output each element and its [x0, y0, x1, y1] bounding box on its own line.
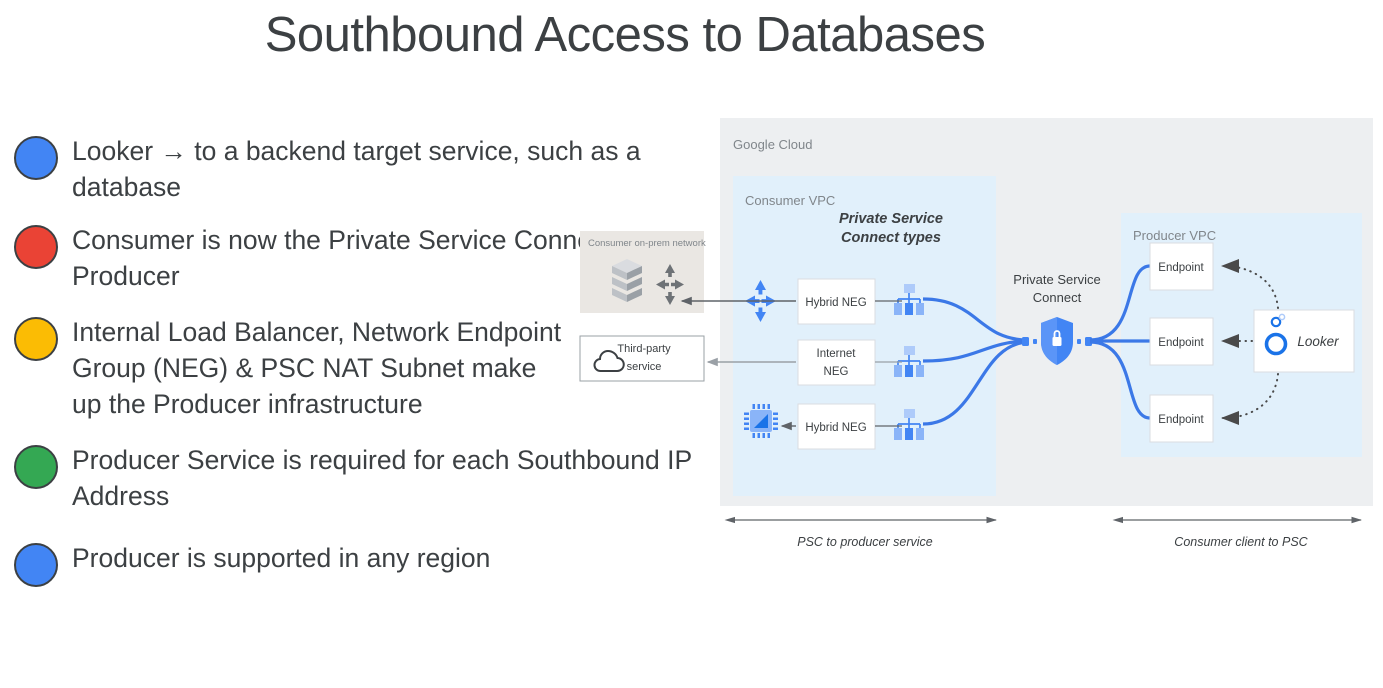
psc-types-label-line1: Private Service: [839, 211, 943, 227]
onprem-label: Consumer on-prem network: [588, 238, 706, 249]
producer-vpc-label: Producer VPC: [1133, 228, 1216, 243]
neg-box-1-label: Hybrid NEG: [805, 297, 866, 309]
psc-label-line1: Private Service: [1013, 272, 1100, 287]
page-title: Southbound Access to Databases: [0, 2, 1250, 68]
span-left-label: PSC to producer service: [797, 535, 933, 549]
looker-label: Looker: [1297, 334, 1339, 349]
architecture-diagram: Google Cloud Consumer VPC Producer VPC C…: [578, 118, 1373, 573]
bullet-label: Internal Load Balancer, Network Endpoint…: [72, 314, 572, 422]
bullet-dot-red: [14, 225, 58, 269]
bullet-dot-green: [14, 445, 58, 489]
google-cloud-label: Google Cloud: [733, 137, 813, 152]
endpoint-box-1-label: Endpoint: [1158, 262, 1204, 274]
neg-box-2-label-line2: NEG: [824, 366, 849, 378]
neg-box-2: [798, 340, 875, 385]
psc-label-line2: Connect: [1033, 290, 1082, 305]
endpoint-box-3-label: Endpoint: [1158, 414, 1204, 426]
bullet-dot-yellow: [14, 317, 58, 361]
third-party-label-line2: service: [627, 361, 662, 373]
endpoint-box-2-label: Endpoint: [1158, 337, 1204, 349]
neg-box-3-label: Hybrid NEG: [805, 422, 866, 434]
bullet-label: Producer is supported in any region: [72, 540, 490, 576]
third-party-label-line1: Third-party: [617, 343, 671, 355]
bullet-dot-blue: [14, 543, 58, 587]
consumer-vpc-label: Consumer VPC: [745, 193, 835, 208]
psc-types-label-line2: Connect types: [841, 230, 941, 246]
bullet-dot-blue: [14, 136, 58, 180]
span-right-label: Consumer client to PSC: [1174, 535, 1308, 549]
neg-box-2-label-line1: Internet: [817, 348, 857, 360]
